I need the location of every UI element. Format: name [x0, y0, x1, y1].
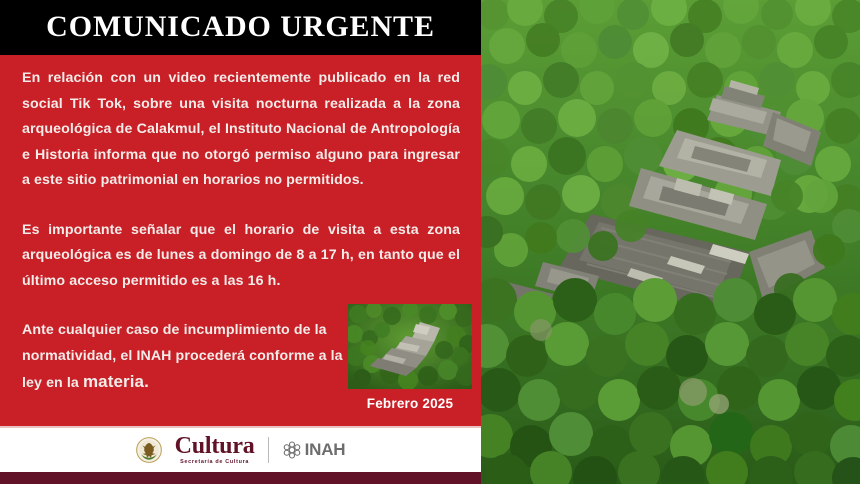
cultura-wordmark: Cultura Secretaría de Cultura [175, 434, 255, 465]
footer-bottom-bar [0, 472, 481, 484]
paragraph-2: Es importante señalar que el horario de … [22, 218, 460, 295]
screenshot-root: COMUNICADO URGENTE En relación con un vi… [0, 0, 860, 484]
paragraph-1: En relación con un video recientemente p… [22, 66, 460, 194]
cultura-title: Cultura [175, 434, 255, 458]
paragraph-3: Ante cualquier caso de incumplimiento de… [22, 318, 347, 397]
inset-photo-caption: Febrero 2025 [348, 396, 472, 411]
inah-logo: INAH [282, 440, 346, 460]
paragraph-3-lead: Ante cualquier caso de incumplimiento de… [22, 322, 343, 391]
cultura-subtitle: Secretaría de Cultura [175, 460, 255, 465]
inah-label: INAH [305, 440, 346, 460]
communique-card: COMUNICADO URGENTE En relación con un vi… [0, 0, 481, 484]
paragraph-3-emphasis: materia. [83, 372, 149, 391]
footer-divider [268, 437, 269, 463]
footer-logos: Cultura Secretaría de Cultura [0, 428, 481, 472]
card-header-bar: COMUNICADO URGENTE [0, 0, 481, 55]
main-photo-calakmul [481, 0, 860, 484]
card-header-title: COMUNICADO URGENTE [46, 12, 435, 44]
inset-photo [348, 304, 472, 389]
card-footer: Cultura Secretaría de Cultura [0, 426, 481, 484]
inah-rosette-icon [282, 440, 302, 460]
main-photo-illustration [481, 0, 860, 484]
mexican-eagle-emblem-icon [136, 437, 162, 463]
inset-photo-illustration [348, 304, 472, 389]
